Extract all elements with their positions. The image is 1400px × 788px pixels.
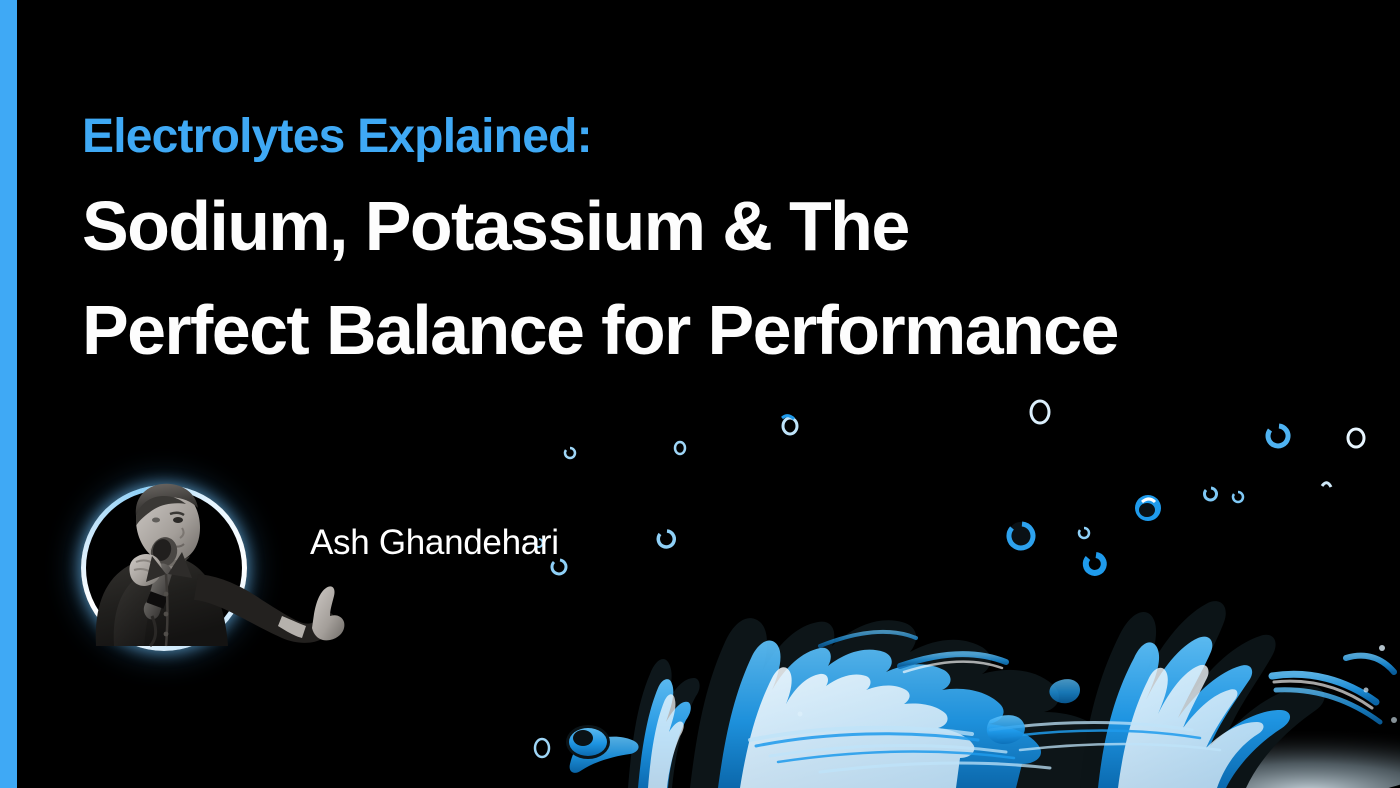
title-eyebrow: Electrolytes Explained: (82, 106, 1118, 168)
author-name: Ash Ghandehari (310, 520, 559, 566)
avatar (76, 420, 336, 664)
title-line-2: Perfect Balance for Performance (82, 278, 1118, 382)
thumbnail-canvas: Electrolytes Explained: Sodium, Potassiu… (0, 0, 1400, 788)
avatar-portrait-photo (86, 490, 242, 646)
headline-block: Electrolytes Explained: Sodium, Potassiu… (82, 106, 1118, 382)
left-accent-bar (0, 0, 17, 788)
author-row: Ash Ghandehari (76, 420, 696, 664)
title-line-1: Sodium, Potassium & The (82, 174, 1118, 278)
